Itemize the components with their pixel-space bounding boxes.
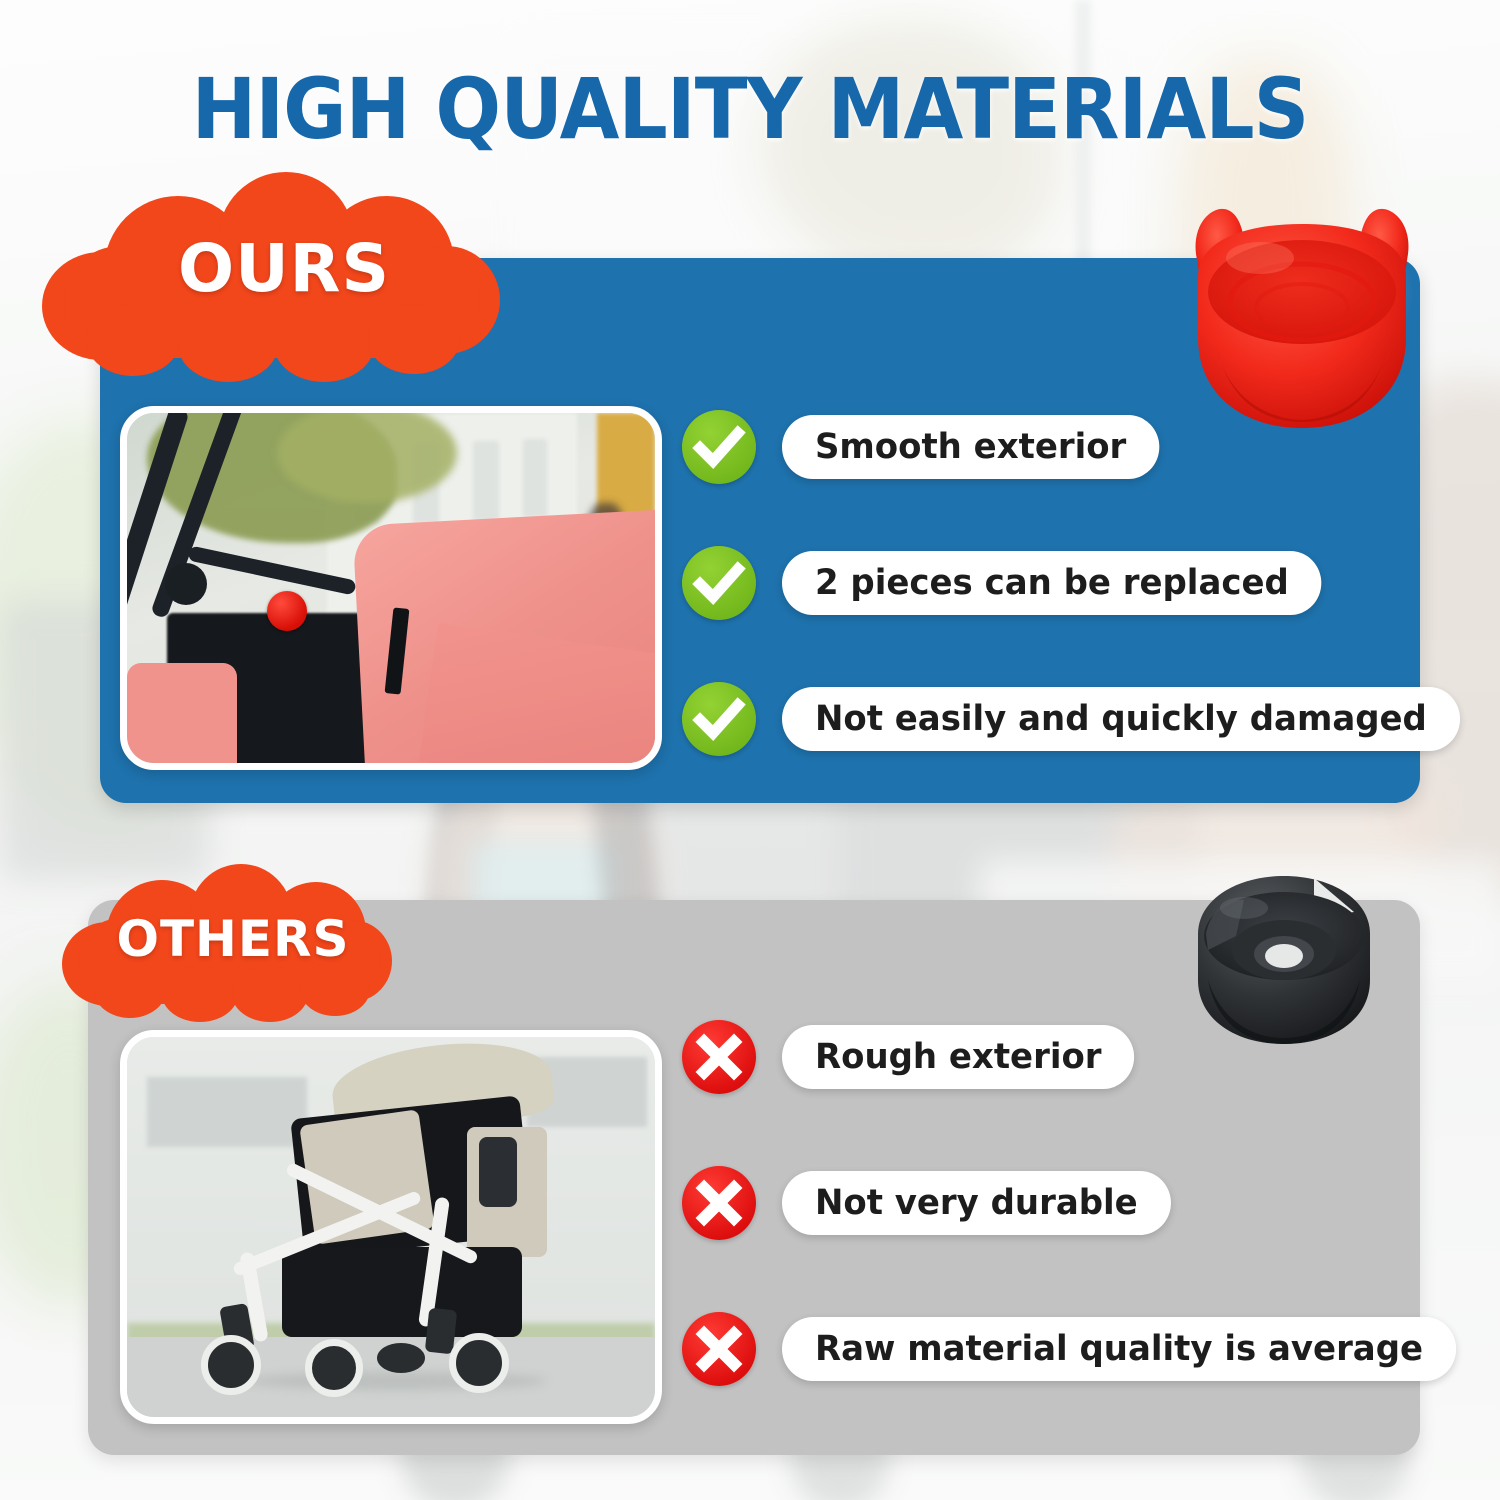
others-badge: OTHERS bbox=[62, 862, 392, 1022]
ours-badge: OURS bbox=[42, 168, 502, 368]
others-feature-label: Rough exterior bbox=[782, 1025, 1135, 1089]
ours-feature-row-3: Not easily and quickly damaged bbox=[682, 682, 1481, 756]
others-feature-row-1: Rough exterior bbox=[682, 1020, 1145, 1094]
ours-feature-label: 2 pieces can be replaced bbox=[782, 551, 1322, 615]
others-badge-label: OTHERS bbox=[68, 910, 398, 968]
cross-icon bbox=[682, 1312, 756, 1386]
ours-feature-label: Smooth exterior bbox=[782, 415, 1159, 479]
ours-feature-row-2: 2 pieces can be replaced bbox=[682, 546, 1338, 620]
ours-feature-label: Not easily and quickly damaged bbox=[782, 687, 1460, 751]
others-feature-row-3: Raw material quality is average bbox=[682, 1312, 1477, 1386]
others-product-photo bbox=[120, 1030, 662, 1424]
cross-icon bbox=[682, 1166, 756, 1240]
red-hinge-cover-in-photo bbox=[267, 591, 307, 631]
ours-feature-row-1: Smooth exterior bbox=[682, 410, 1171, 484]
check-icon bbox=[682, 410, 756, 484]
others-feature-label: Raw material quality is average bbox=[782, 1317, 1456, 1381]
black-hinge-cover-part bbox=[1186, 868, 1382, 1054]
check-icon bbox=[682, 682, 756, 756]
ours-product-photo bbox=[120, 406, 662, 770]
red-hinge-cover-part bbox=[1168, 196, 1436, 444]
others-feature-row-2: Not very durable bbox=[682, 1166, 1183, 1240]
others-feature-label: Not very durable bbox=[782, 1171, 1171, 1235]
infographic-canvas: HIGH QUALITY MATERIALS bbox=[0, 0, 1500, 1500]
cross-icon bbox=[682, 1020, 756, 1094]
page-title: HIGH QUALITY MATERIALS bbox=[60, 60, 1440, 158]
check-icon bbox=[682, 546, 756, 620]
ours-badge-label: OURS bbox=[54, 230, 514, 307]
